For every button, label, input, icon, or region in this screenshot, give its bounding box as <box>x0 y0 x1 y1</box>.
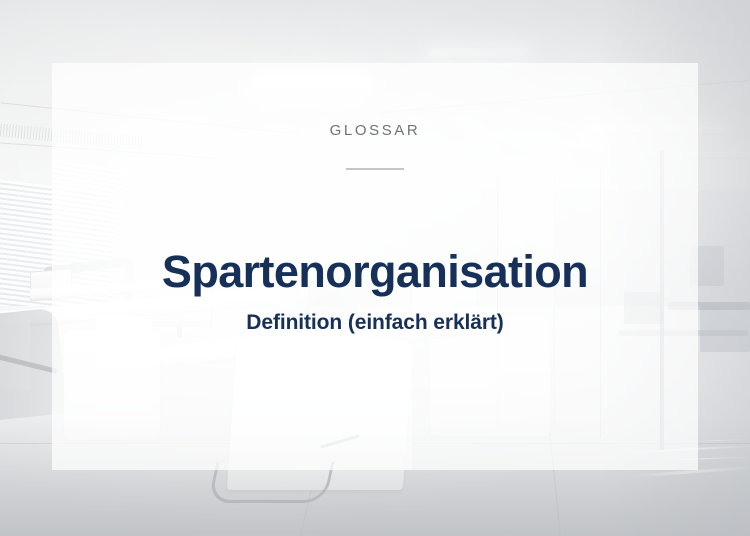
kicker-label: GLOSSAR <box>0 121 750 141</box>
page-title: Spartenorganisation <box>0 243 750 301</box>
glossary-hero-banner: GLOSSAR Spartenorganisation Definition (… <box>0 0 750 536</box>
hero-content: GLOSSAR Spartenorganisation Definition (… <box>0 0 750 536</box>
title-divider <box>346 168 404 170</box>
page-subtitle: Definition (einfach erklärt) <box>0 309 750 337</box>
